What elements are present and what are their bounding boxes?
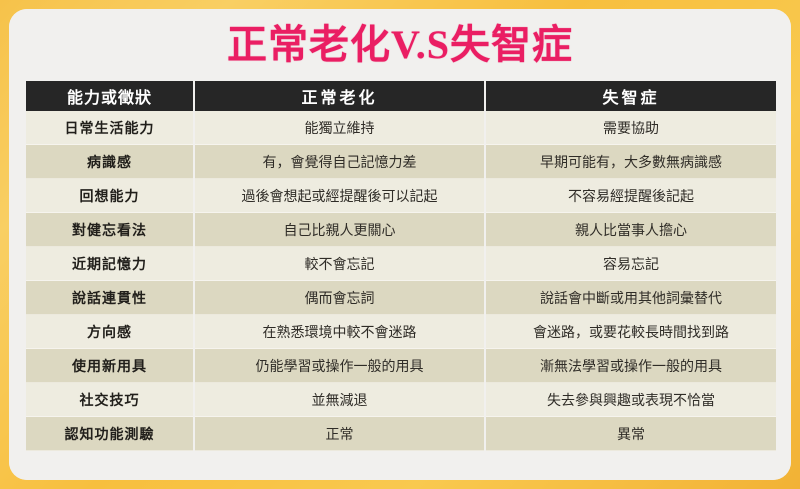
- row-label-cell: 近期記憶力: [26, 247, 194, 281]
- table-row: 回想能力過後會想起或經提醒後可以記起不容易經提醒後記起: [26, 179, 776, 213]
- table-header: 能力或徵狀 正常老化 失智症: [26, 81, 776, 111]
- comparison-table-container: 能力或徵狀 正常老化 失智症 日常生活能力能獨立維持需要協助病識感有，會覺得自己…: [9, 81, 791, 451]
- normal-aging-cell: 較不會忘記: [194, 247, 485, 281]
- table-row: 方向感在熟悉環境中較不會迷路會迷路，或要花較長時間找到路: [26, 315, 776, 349]
- normal-aging-cell: 正常: [194, 417, 485, 451]
- row-label-cell: 使用新用具: [26, 349, 194, 383]
- column-header-ability: 能力或徵狀: [26, 81, 194, 111]
- column-header-normal-aging: 正常老化: [194, 81, 485, 111]
- page-title: 正常老化V.S失智症: [227, 25, 573, 65]
- dementia-cell: 失去參與興趣或表現不恰當: [485, 383, 776, 417]
- panel-bottom-spacer: [9, 451, 791, 480]
- table-row: 對健忘看法自己比親人更關心親人比當事人擔心: [26, 213, 776, 247]
- dementia-cell: 不容易經提醒後記起: [485, 179, 776, 213]
- table-row: 日常生活能力能獨立維持需要協助: [26, 111, 776, 145]
- normal-aging-cell: 並無減退: [194, 383, 485, 417]
- poster-frame: 正常老化V.S失智症 能力或徵狀 正常老化 失智症 日常生活能力能獨立維持需要協…: [0, 0, 800, 489]
- dementia-cell: 早期可能有，大多數無病識感: [485, 145, 776, 179]
- comparison-table: 能力或徵狀 正常老化 失智症 日常生活能力能獨立維持需要協助病識感有，會覺得自己…: [26, 81, 776, 451]
- dementia-cell: 異常: [485, 417, 776, 451]
- table-row: 認知功能測驗正常異常: [26, 417, 776, 451]
- dementia-cell: 需要協助: [485, 111, 776, 145]
- dementia-cell: 說話會中斷或用其他詞彙替代: [485, 281, 776, 315]
- normal-aging-cell: 偶而會忘詞: [194, 281, 485, 315]
- dementia-cell: 親人比當事人擔心: [485, 213, 776, 247]
- table-header-row: 能力或徵狀 正常老化 失智症: [26, 81, 776, 111]
- row-label-cell: 日常生活能力: [26, 111, 194, 145]
- normal-aging-cell: 在熟悉環境中較不會迷路: [194, 315, 485, 349]
- table-body: 日常生活能力能獨立維持需要協助病識感有，會覺得自己記憶力差早期可能有，大多數無病…: [26, 111, 776, 451]
- column-header-dementia: 失智症: [485, 81, 776, 111]
- normal-aging-cell: 仍能學習或操作一般的用具: [194, 349, 485, 383]
- row-label-cell: 方向感: [26, 315, 194, 349]
- table-row: 說話連貫性偶而會忘詞說話會中斷或用其他詞彙替代: [26, 281, 776, 315]
- dementia-cell: 會迷路，或要花較長時間找到路: [485, 315, 776, 349]
- row-label-cell: 社交技巧: [26, 383, 194, 417]
- content-panel: 正常老化V.S失智症 能力或徵狀 正常老化 失智症 日常生活能力能獨立維持需要協…: [9, 9, 791, 480]
- row-label-cell: 對健忘看法: [26, 213, 194, 247]
- row-label-cell: 病識感: [26, 145, 194, 179]
- row-label-cell: 認知功能測驗: [26, 417, 194, 451]
- table-row: 社交技巧並無減退失去參與興趣或表現不恰當: [26, 383, 776, 417]
- table-row: 病識感有，會覺得自己記憶力差早期可能有，大多數無病識感: [26, 145, 776, 179]
- normal-aging-cell: 過後會想起或經提醒後可以記起: [194, 179, 485, 213]
- row-label-cell: 回想能力: [26, 179, 194, 213]
- normal-aging-cell: 有，會覺得自己記憶力差: [194, 145, 485, 179]
- table-row: 近期記憶力較不會忘記容易忘記: [26, 247, 776, 281]
- row-label-cell: 說話連貫性: [26, 281, 194, 315]
- normal-aging-cell: 自己比親人更關心: [194, 213, 485, 247]
- normal-aging-cell: 能獨立維持: [194, 111, 485, 145]
- dementia-cell: 漸無法學習或操作一般的用具: [485, 349, 776, 383]
- dementia-cell: 容易忘記: [485, 247, 776, 281]
- table-row: 使用新用具仍能學習或操作一般的用具漸無法學習或操作一般的用具: [26, 349, 776, 383]
- title-area: 正常老化V.S失智症: [9, 9, 791, 81]
